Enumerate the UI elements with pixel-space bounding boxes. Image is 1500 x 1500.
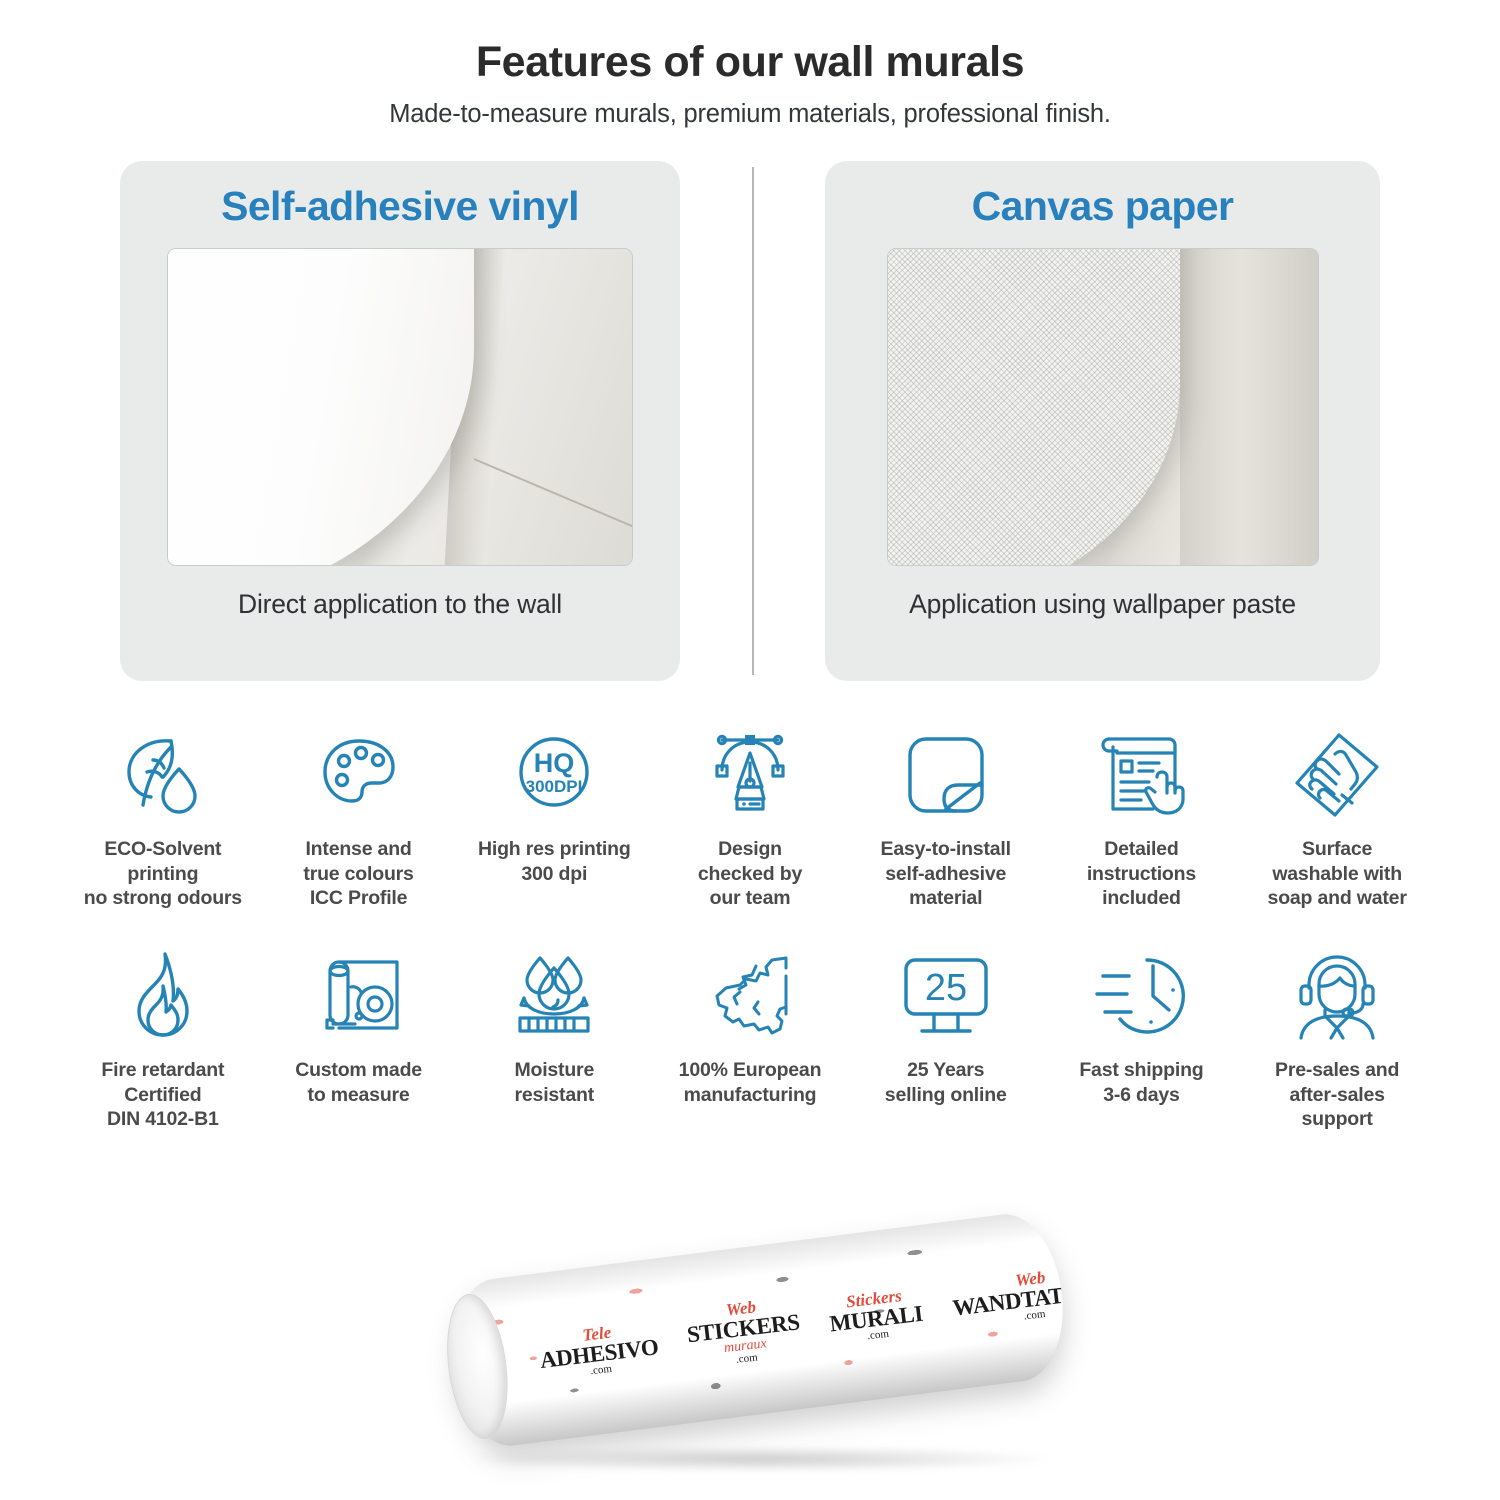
monitor-badge-value: 25	[925, 967, 967, 1009]
feature-label: Easy-to-install self-adhesive material	[881, 837, 1011, 910]
card-title: Self-adhesive vinyl	[221, 183, 579, 230]
vinyl-photo	[167, 248, 633, 566]
feature-item: 25 25 Years selling online	[848, 946, 1044, 1131]
feature-label: Design checked by our team	[698, 837, 802, 910]
feature-item: 100% European manufacturing	[652, 946, 848, 1131]
tube-shadow	[470, 1446, 1050, 1472]
page-header: Features of our wall murals Made-to-meas…	[0, 0, 1500, 129]
page-subtitle: Made-to-measure murals, premium material…	[0, 100, 1500, 129]
feature-item: Custom made to measure	[261, 946, 457, 1131]
hq-badge-top: HQ	[534, 748, 575, 778]
feature-item: Design checked by our team	[652, 725, 848, 910]
feature-label: 100% European manufacturing	[679, 1058, 822, 1107]
feature-label: Fire retardant Certified DIN 4102-B1	[101, 1058, 224, 1131]
document-hand-icon	[1091, 725, 1191, 825]
feature-label: Moisture resistant	[514, 1058, 594, 1107]
features-page: Features of our wall murals Made-to-meas…	[0, 0, 1500, 1500]
feature-label: ECO-Solvent printing no strong odours	[84, 837, 242, 910]
headset-agent-icon	[1287, 946, 1387, 1046]
feature-icon-grid: ECO-Solvent printing no strong odours In…	[65, 725, 1435, 1131]
feature-item: Fast shipping 3-6 days	[1044, 946, 1240, 1131]
canvas-roll-shape	[1180, 248, 1319, 566]
tube-brand: Tele ADHESIVO .com	[537, 1318, 661, 1383]
canvas-photo	[887, 248, 1319, 566]
roll-measuring-tape-icon	[309, 946, 409, 1046]
fast-clock-icon	[1091, 946, 1191, 1046]
hand-wiping-cloth-icon	[1287, 725, 1387, 825]
leaf-droplet-icon	[113, 725, 213, 825]
feature-item: Detailed instructions included	[1044, 725, 1240, 910]
water-repellent-icon	[504, 946, 604, 1046]
feature-item: Fire retardant Certified DIN 4102-B1	[65, 946, 261, 1131]
tube-brand: Web WANDTATTOO .com	[949, 1261, 1072, 1330]
feature-label: Intense and true colours ICC Profile	[303, 837, 413, 910]
product-tube: Tele ADHESIVO .com Web STICKERS muraux .…	[444, 1208, 1072, 1451]
paint-palette-icon	[309, 725, 409, 825]
hq-badge-bottom: 300DPI	[526, 777, 583, 796]
feature-item: ECO-Solvent printing no strong odours	[65, 725, 261, 910]
card-caption: Direct application to the wall	[238, 588, 562, 622]
page-title: Features of our wall murals	[0, 38, 1500, 86]
feature-item: HQ 300DPI High res printing 300 dpi	[456, 725, 652, 910]
hq-300dpi-badge-icon: HQ 300DPI	[504, 725, 604, 825]
feature-label: High res printing 300 dpi	[478, 837, 631, 886]
peeling-sticker-icon	[896, 725, 996, 825]
pen-nib-bezier-icon	[700, 725, 800, 825]
feature-label: Detailed instructions included	[1087, 837, 1196, 910]
feature-item: Easy-to-install self-adhesive material	[848, 725, 1044, 910]
card-title: Canvas paper	[972, 183, 1234, 230]
feature-item: Surface washable with soap and water	[1239, 725, 1435, 910]
feature-item: Pre-sales and after-sales support	[1239, 946, 1435, 1131]
feature-label: Surface washable with soap and water	[1268, 837, 1407, 910]
europe-map-icon	[700, 946, 800, 1046]
feature-label: Pre-sales and after-sales support	[1275, 1058, 1399, 1131]
cards-divider	[752, 167, 754, 675]
tube-body: Tele ADHESIVO .com Web STICKERS muraux .…	[444, 1208, 1072, 1451]
product-tube-area: Tele ADHESIVO .com Web STICKERS muraux .…	[0, 1232, 1500, 1482]
tube-brand-print: Tele ADHESIVO .com Web STICKERS muraux .…	[444, 1208, 1072, 1451]
feature-label: 25 Years selling online	[885, 1058, 1007, 1107]
feature-label: Fast shipping 3-6 days	[1079, 1058, 1203, 1107]
feature-label: Custom made to measure	[295, 1058, 422, 1107]
card-canvas-paper[interactable]: Canvas paper Application using wallpaper…	[825, 161, 1380, 681]
feature-item: Moisture resistant	[456, 946, 652, 1131]
card-self-adhesive-vinyl[interactable]: Self-adhesive vinyl Direct application t…	[120, 161, 680, 681]
material-cards: Self-adhesive vinyl Direct application t…	[120, 161, 1380, 681]
feature-item: Intense and true colours ICC Profile	[261, 725, 457, 910]
tube-brand: Stickers MURALI .com	[827, 1284, 926, 1346]
flame-icon	[113, 946, 213, 1046]
monitor-25-icon: 25	[896, 946, 996, 1046]
card-caption: Application using wallpaper paste	[909, 588, 1296, 622]
tube-brand: Web STICKERS muraux .com	[684, 1293, 804, 1371]
